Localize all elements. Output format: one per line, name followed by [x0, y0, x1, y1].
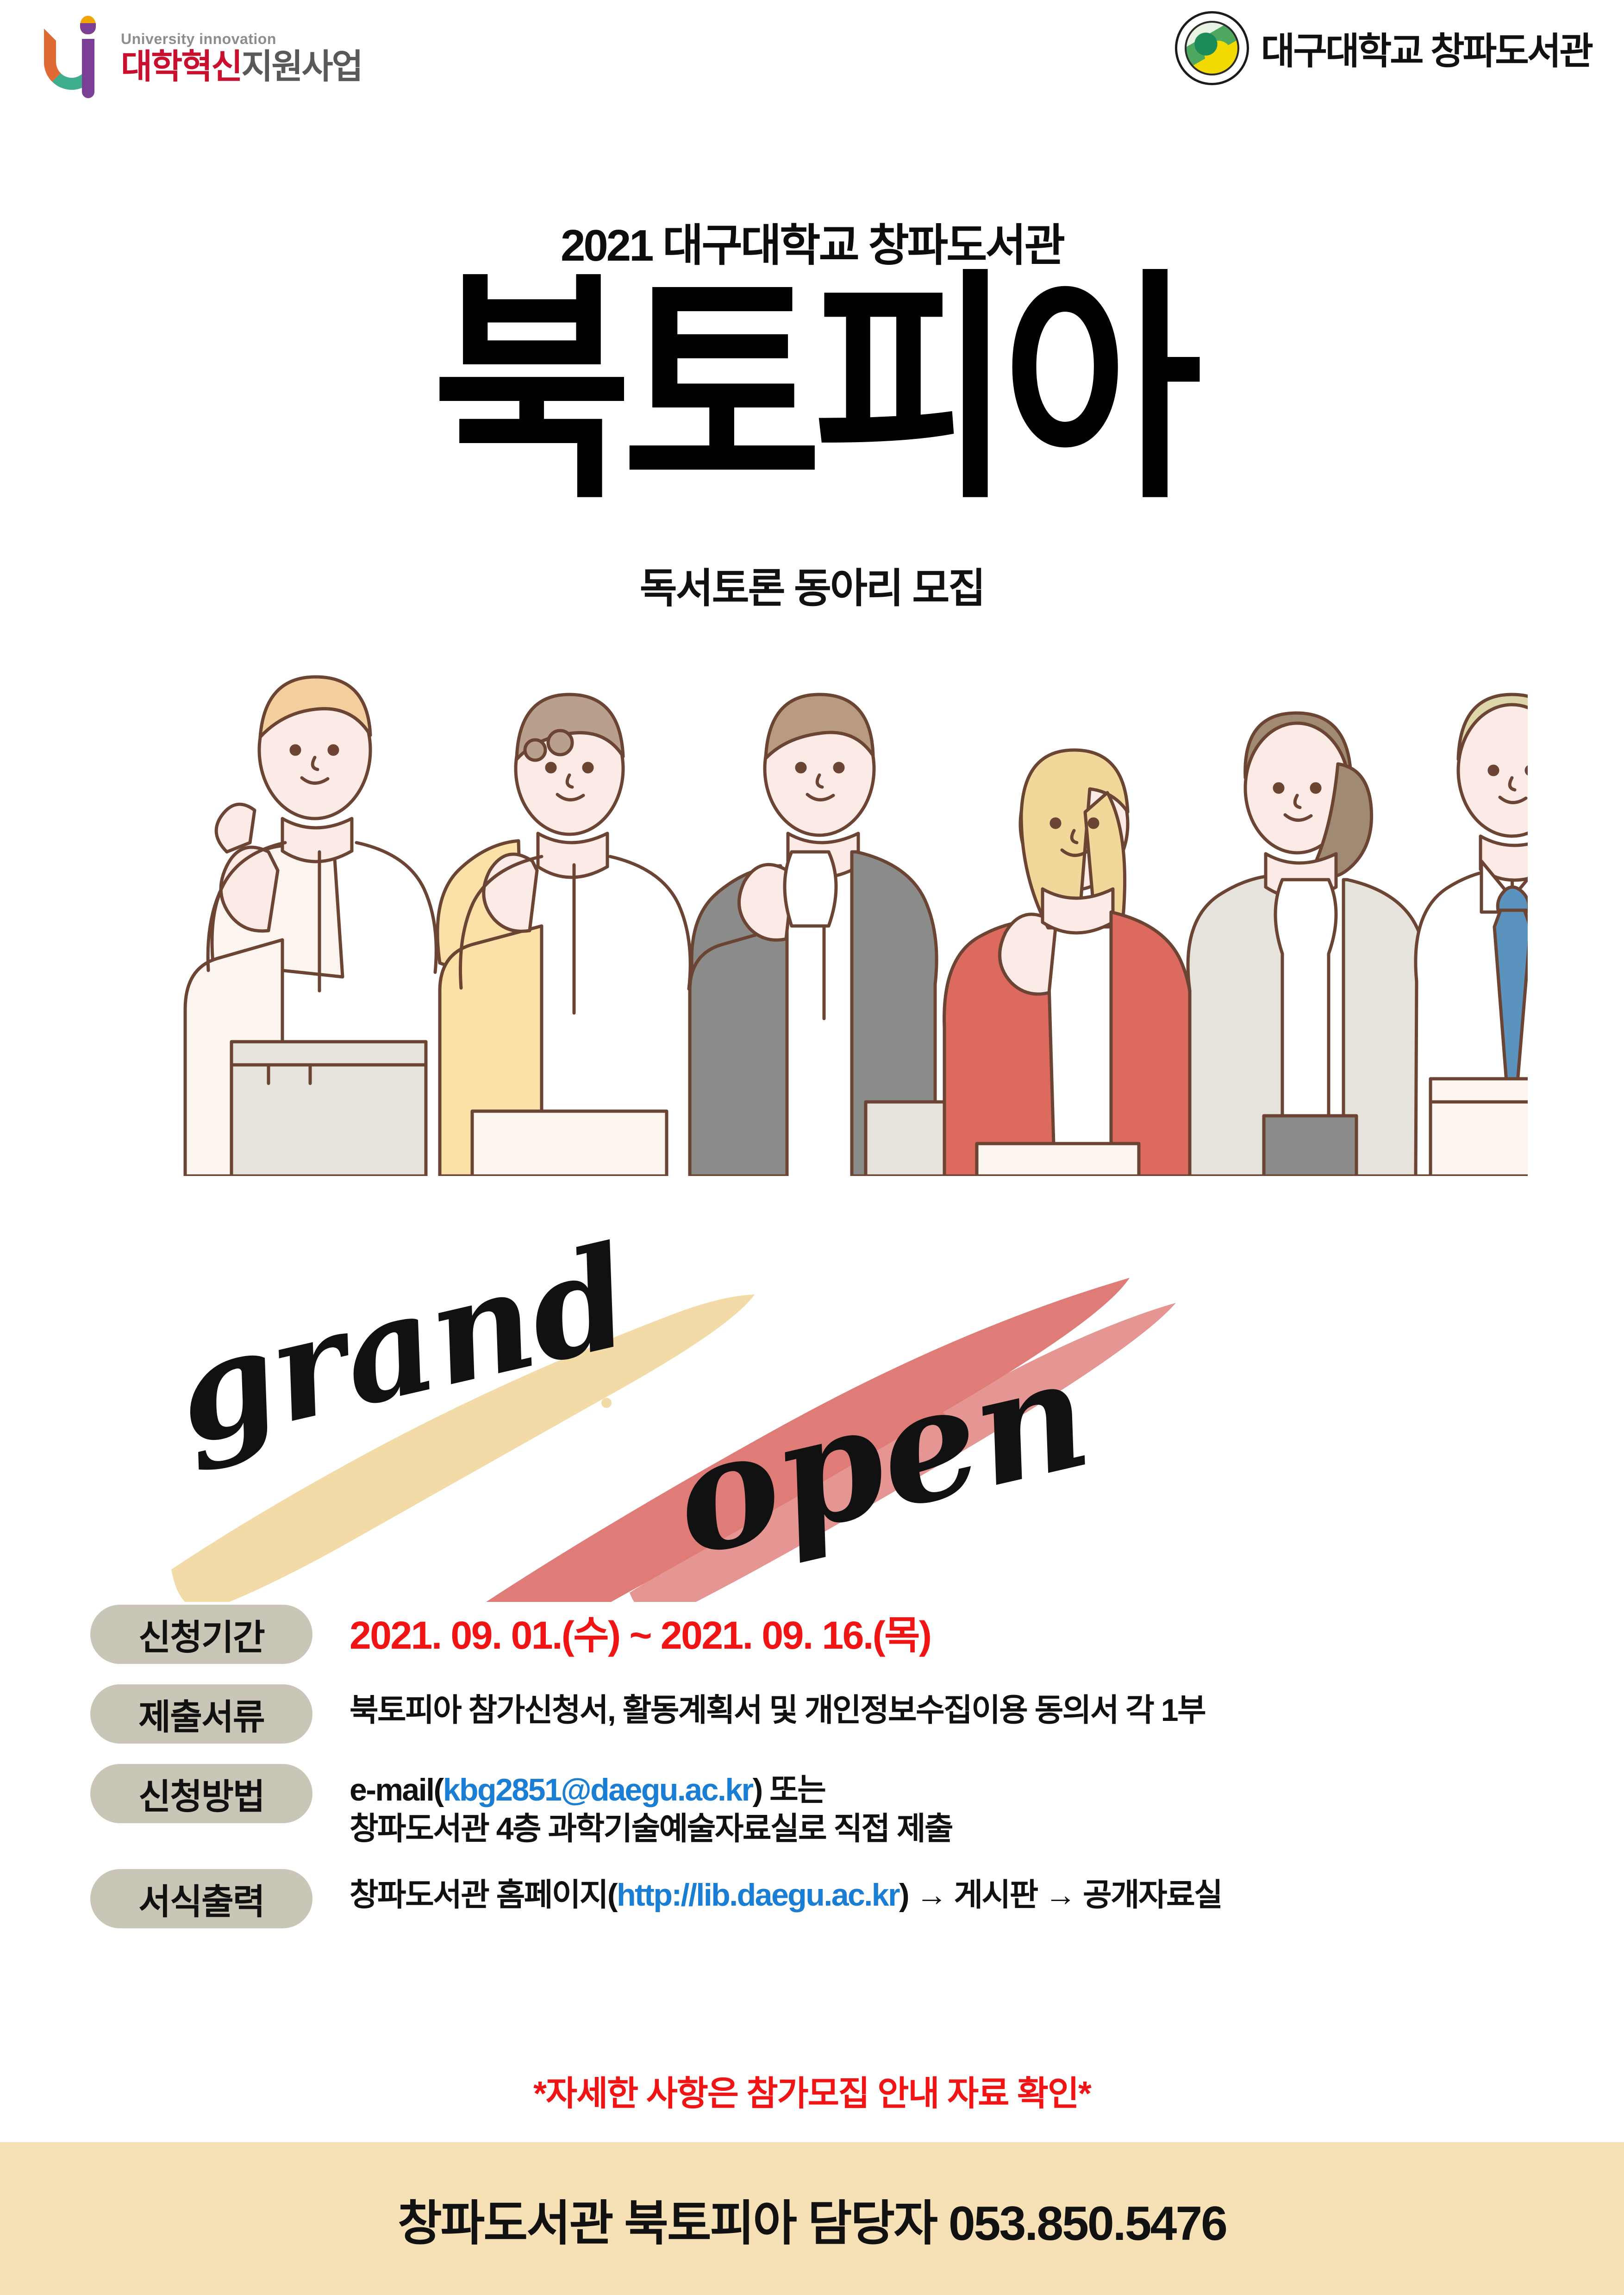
info-value-documents: 북토피아 참가신청서, 활동계획서 및 개인정보수집이용 동의서 각 1부	[350, 1684, 1205, 1730]
pill-label-documents: 제출서류	[90, 1684, 312, 1744]
logo-eng-label: University innovation	[121, 31, 362, 48]
uj-logo-icon	[44, 13, 109, 101]
info-row-forms: 서식출력 창파도서관 홈페이지(http://lib.daegu.ac.kr) …	[90, 1869, 1572, 1928]
pill-label-forms: 서식출력	[90, 1869, 312, 1928]
logo-kor-highlight: 대학혁신	[121, 47, 241, 86]
logo-row: University innovation 대학혁신지원사업 대구대학교 창파도…	[0, 0, 1624, 130]
note-text: *자세한 사항은 참가모집 안내 자료 확인*	[0, 2066, 1624, 2115]
pill-label-period: 신청기간	[90, 1605, 312, 1664]
page-title: 북토피아	[0, 273, 1624, 507]
subtitle-text: 독서토론 동아리 모집	[0, 556, 1624, 614]
info-row-period: 신청기간 2021. 09. 01.(수) ~ 2021. 09. 16.(목)	[90, 1605, 1572, 1664]
grand-open-graphic: grand open	[153, 1185, 1486, 1602]
info-row-documents: 제출서류 북토피아 참가신청서, 활동계획서 및 개인정보수집이용 동의서 각 …	[90, 1684, 1572, 1744]
info-section: 신청기간 2021. 09. 01.(수) ~ 2021. 09. 16.(목)…	[90, 1605, 1572, 1949]
email-suffix: ) 또는	[753, 1772, 825, 1807]
email-prefix: e-mail(	[350, 1772, 443, 1807]
daegu-library-logo: 대구대학교 창파도서관	[1175, 11, 1592, 85]
poster-root: University innovation 대학혁신지원사업 대구대학교 창파도…	[0, 0, 1624, 2295]
university-innovation-logo: University innovation 대학혁신지원사업	[44, 13, 362, 101]
daegu-university-seal-icon	[1175, 11, 1249, 85]
footer-bar: 창파도서관 북토피아 담당자 053.850.5476	[0, 2142, 1624, 2295]
documents-value: 북토피아 참가신청서, 활동계획서 및 개인정보수집이용 동의서 각 1부	[350, 1693, 1205, 1728]
info-row-method: 신청방법 e-mail(kbg2851@daegu.ac.kr) 또는 창파도서…	[90, 1764, 1572, 1849]
info-value-period: 2021. 09. 01.(수) ~ 2021. 09. 16.(목)	[350, 1605, 931, 1659]
application-period-value: 2021. 09. 01.(수) ~ 2021. 09. 16.(목)	[350, 1613, 931, 1657]
library-website-link[interactable]: http://lib.daegu.ac.kr	[617, 1877, 899, 1913]
method-line-2: 창파도서관 4층 과학기술예술자료실로 직접 제출	[350, 1811, 952, 1846]
library-name-label: 대구대학교 창파도서관	[1261, 21, 1592, 75]
email-address-link[interactable]: kbg2851@daegu.ac.kr	[443, 1772, 753, 1807]
pill-label-method: 신청방법	[90, 1764, 312, 1823]
info-value-forms: 창파도서관 홈페이지(http://lib.daegu.ac.kr) → 게시판…	[350, 1869, 1222, 1914]
info-value-method: e-mail(kbg2851@daegu.ac.kr) 또는 창파도서관 4층 …	[350, 1764, 952, 1849]
people-thumbs-up-illustration	[116, 611, 1528, 1176]
open-script-text: open	[657, 1322, 1104, 1591]
forms-suffix: ) → 게시판 → 공개자료실	[899, 1877, 1222, 1913]
forms-prefix: 창파도서관 홈페이지(	[350, 1877, 617, 1913]
footer-contact-text: 창파도서관 북토피아 담당자 053.850.5476	[398, 2184, 1226, 2254]
logo-kor-rest: 지원사업	[241, 47, 362, 86]
